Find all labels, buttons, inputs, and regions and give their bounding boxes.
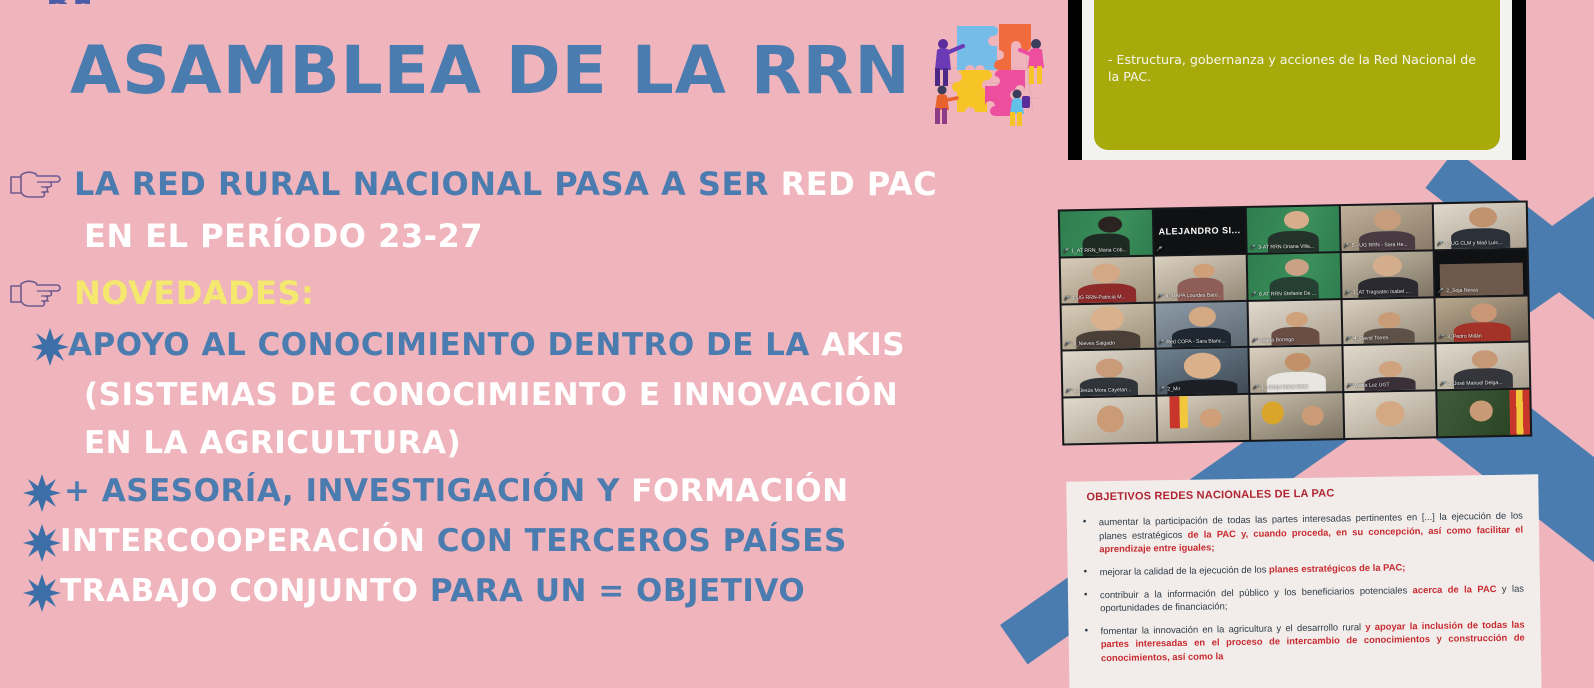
bullet-text: TRABAJO CONJUNTO PARA UN = OBJETIVO [60,567,805,615]
mic-icon: 🎤 [1157,293,1164,299]
participant-name: 🎤1_Josep Maria Marti [1252,383,1340,392]
video-tile[interactable]: 🎤1_UG CLM y Mað Luis... [1434,203,1526,250]
video-tile[interactable]: 🎤3_José Manuel Delga... [1437,343,1529,390]
video-tile[interactable]: 🎤1 UG RRN-Patricia M... [1061,257,1153,304]
bullet-body: contribuir a la información del público … [1100,581,1524,615]
eight-point-star-icon [22,573,62,613]
participant-name: 🎤Red COPA - Sara Blanc... [1158,338,1246,347]
clipped-title-fragment: RR [46,0,90,4]
slide-bubble-estructura: - Estructura, gobernanza y acciones de l… [1094,0,1500,150]
video-tile[interactable]: 🎤3-AT RRN Oriana Villa... [1247,206,1339,253]
bullet-text: LA RED RURAL NACIONAL PASA A SER RED PAC [74,160,937,210]
pointing-hand-icon [8,164,64,204]
bullet-dot: • [1084,565,1092,579]
mic-icon: 🎤 [1063,295,1070,301]
participant-name: 🎤Juana Borrego [1251,337,1339,346]
bullet-body: aumentar la participación de todas las p… [1099,509,1524,557]
poster-canvas: RR ASAMBLEA DE LA RRN [0,0,1594,688]
bullet-text: APOYO AL CONOCIMIENTO DENTRO DE LA AKIS [68,321,905,369]
participant-name: 🎤4_MAPA Lourdes Bato... [1157,292,1245,301]
objectives-document-screenshot: OBJETIVOS REDES NACIONALES DE LA PAC • a… [1066,474,1542,688]
document-bullet: • contribuir a la información del públic… [1084,581,1524,615]
mic-icon: 🎤 [1250,245,1257,251]
video-tile[interactable] [1157,395,1249,442]
mic-icon: 🎤 [1156,246,1163,252]
video-tile[interactable] [1344,391,1436,438]
mic-icon: 🎤 [1065,388,1072,394]
video-tile[interactable]: 🎤4_MAPA Lourdes Bato... [1154,255,1246,302]
presentation-slide-screenshot: incluidas las actividades de apoyo a los… [1068,0,1526,160]
bullet-text-blue: LA RED RURAL NACIONAL PASA A SER [74,165,781,203]
participant-name: 🎤4_David Torres [1345,335,1433,344]
pointing-hand-icon [8,273,64,313]
video-tile[interactable]: 🎤5_Jesús Mora Cayetan... [1063,350,1155,397]
video-tile[interactable]: 🎤3_Nieves Salgado [1062,303,1154,350]
eight-point-star-icon [22,523,62,563]
video-tile[interactable]: 🎤Juana Borrego [1249,300,1341,347]
bullet-item-trabajo: TRABAJO CONJUNTO PARA UN = OBJETIVO [22,567,1048,615]
bullet-text-blue: PARA UN = OBJETIVO [430,573,805,609]
bullet-text-blue: CON TERCEROS PAÍSES [437,523,847,559]
participant-name: 🎤3-AT RRN Oriana Villa... [1250,243,1338,252]
mic-icon: 🎤 [1437,241,1444,247]
mic-icon: 🎤 [1438,288,1445,294]
video-tile[interactable]: 🎤1_AT RRN_Maria Cob... [1060,210,1152,257]
participant-name: 🎤1_UG CLM y Mað Luis... [1437,239,1525,248]
bullet-text-white: AKIS [821,327,905,363]
video-tile[interactable]: 🎤4_David Torres [1342,298,1434,345]
bullet-text: + ASESORÍA, INVESTIGACIÓN Y FORMACIÓN [64,467,849,515]
bullet-body: mejorar la calidad de la ejecución de lo… [1100,558,1524,578]
bullet-text-white: RED PAC [781,165,937,203]
mic-icon: 🎤 [1064,342,1071,348]
participant-name: 🎤Maria Luz UGT [1346,382,1434,391]
document-bullet: • mejorar la calidad de la ejecución de … [1084,558,1524,579]
title-row: ASAMBLEA DE LA RRN [70,8,1051,133]
bullet-text-blue: APOYO AL CONOCIMIENTO DENTRO DE LA [68,327,821,363]
video-conference-screenshot: 🎤1_AT RRN_Maria Cob... ALEJANDRO SI... 🎤… [1058,201,1532,446]
participant-name: 🎤1_AT Tragsatec Isabel ... [1344,288,1432,297]
bullet-list: LA RED RURAL NACIONAL PASA A SER RED PAC… [8,160,1048,617]
document-title: OBJETIVOS REDES NACIONALES DE LA PAC [1086,485,1522,504]
mic-icon: 🎤 [1251,291,1258,297]
video-tile[interactable]: 🎤Red COPA - Sara Blanc... [1155,302,1247,349]
video-tile[interactable]: 🎤3_Pedro Millán [1436,296,1528,343]
mic-icon: 🎤 [1159,387,1166,393]
video-tile[interactable]: 🎤Maria Luz UGT [1343,345,1435,392]
participant-name: 🎤3_Pedro Millán [1439,333,1527,342]
bullet-dot: • [1083,515,1092,556]
mic-icon: 🎤 [1344,290,1351,296]
participant-name: 🎤3_José Manuel Delga... [1440,380,1528,389]
poster-text-column: RR ASAMBLEA DE LA RRN [0,0,1060,688]
video-tile[interactable]: 🎤5 - UG RRN - Sara He... [1341,204,1433,251]
page-title: ASAMBLEA DE LA RRN [70,36,911,105]
puzzle-teamwork-icon [921,8,1051,133]
media-column: incluidas las actividades de apoyo a los… [1060,0,1594,688]
bullet-text: INTERCOOPERACIÓN CON TERCEROS PAÍSES [60,517,847,565]
video-tile[interactable]: 🎤2_Soja Nerea [1435,249,1527,296]
participant-name: 🎤6 AT RRN Stefanie De ... [1251,290,1339,299]
video-tile[interactable]: 🎤2_Mir [1156,348,1248,395]
participant-name: 🎤1 UG RRN-Patricia M... [1063,293,1151,302]
bullet-text-white: TRABAJO CONJUNTO [60,573,430,609]
mic-icon: 🎤 [1345,336,1352,342]
video-tile[interactable]: 🎤1_AT Tragsatec Isabel ... [1341,251,1433,298]
mic-icon: 🎤 [1252,385,1259,391]
mic-icon: 🎤 [1439,335,1446,341]
participant-name: 🎤5_Jesús Mora Cayetan... [1065,387,1153,396]
eight-point-star-icon [30,327,70,367]
video-tile-spotlight[interactable]: ALEJANDRO SI... 🎤 [1153,208,1245,255]
mic-icon: 🎤 [1158,340,1165,346]
bullet-dot: • [1084,624,1093,665]
bullet-text-akis-line2: (SISTEMAS DE CONOCIMIENTO E INNOVACIÓN [84,371,1048,419]
bullet-text-blue: + ASESORÍA, INVESTIGACIÓN Y [64,473,631,509]
bullet-item-intercooperacion: INTERCOOPERACIÓN CON TERCEROS PAÍSES [22,517,1048,565]
eight-point-star-icon [22,473,62,513]
bullet-item-asesoria: + ASESORÍA, INVESTIGACIÓN Y FORMACIÓN [22,467,1048,515]
bullet-item-novedades: NOVEDADES: [8,269,1048,319]
mic-icon: 🎤 [1346,383,1353,389]
mic-icon: 🎤 [1440,381,1447,387]
mic-icon: 🎤 [1063,248,1070,254]
video-tile[interactable]: 🎤6 AT RRN Stefanie De ... [1248,253,1340,300]
mic-icon: 🎤 [1343,243,1350,249]
video-tile[interactable]: 🎤1_Josep Maria Marti [1250,347,1342,394]
participant-name: 🎤5 - UG RRN - Sara He... [1343,241,1431,250]
video-grid: 🎤1_AT RRN_Maria Cob... ALEJANDRO SI... 🎤… [1060,203,1530,444]
bullet-text-white: FORMACIÓN [631,473,848,509]
bullet-dot: • [1084,588,1092,615]
document-bullet: • fomentar la innovación en la agricultu… [1084,617,1525,665]
bullet-item-red-pac: LA RED RURAL NACIONAL PASA A SER RED PAC [8,160,1048,210]
bullet-text-novedades: NOVEDADES: [74,269,314,319]
document-bullet: • aumentar la participación de todas las… [1083,509,1524,557]
participant-name: 🎤1_AT RRN_Maria Cob... [1063,247,1151,256]
bullet-item-akis: APOYO AL CONOCIMIENTO DENTRO DE LA AKIS [30,321,1048,369]
bullet-text-akis-line3: EN LA AGRICULTURA) [84,419,1048,467]
slide-inner: incluidas las actividades de apoyo a los… [1082,0,1512,160]
video-tile[interactable] [1063,397,1155,444]
bullet-body: fomentar la innovación en la agricultura… [1100,617,1525,665]
bullet-text-periodo: EN EL PERÍODO 23-27 [84,212,1048,262]
mic-icon: 🎤 [1251,338,1258,344]
bullet-text-white: INTERCOOPERACIÓN [60,523,437,559]
video-tile[interactable] [1251,393,1343,440]
video-tile[interactable] [1438,390,1530,437]
